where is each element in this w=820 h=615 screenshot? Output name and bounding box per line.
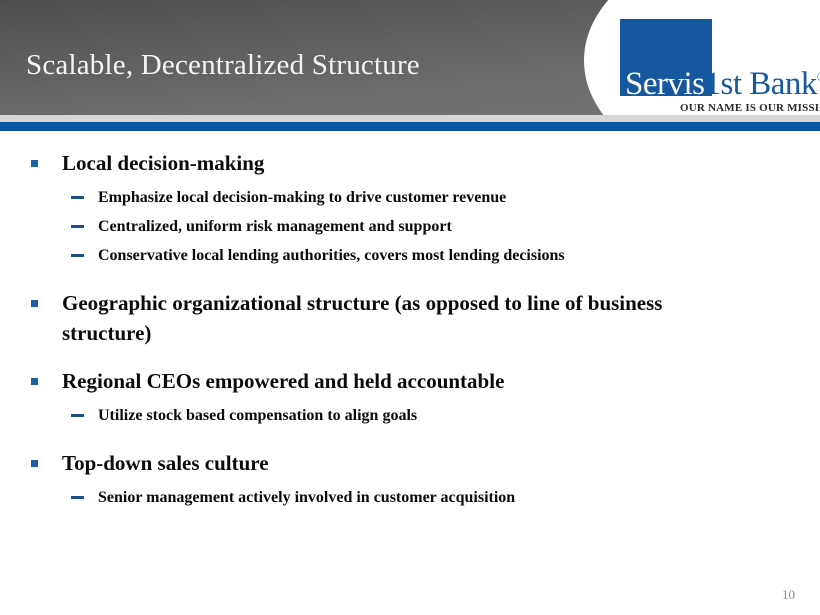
brand-logo: Servis1st Bank® OUR NAME IS OUR MISSION. bbox=[618, 18, 818, 116]
square-bullet-icon bbox=[31, 160, 38, 167]
bullet-level1-text: Geographic organizational structure (as … bbox=[62, 291, 662, 345]
bullet-level2-text: Senior management actively involved in c… bbox=[98, 489, 515, 506]
bullet-level2-text: Emphasize local decision-making to drive… bbox=[98, 189, 506, 206]
slide-body: Local decision-making Emphasize local de… bbox=[0, 148, 820, 512]
bullet-group: Regional CEOs empowered and held account… bbox=[0, 366, 820, 430]
divider-blue-stripe bbox=[0, 122, 820, 131]
bullet-level1: Geographic organizational structure (as … bbox=[0, 288, 820, 348]
bullet-level2: Senior management actively involved in c… bbox=[0, 483, 820, 512]
bullet-level1: Regional CEOs empowered and held account… bbox=[0, 366, 820, 396]
page-number: 10 bbox=[782, 587, 795, 603]
square-bullet-icon bbox=[31, 460, 38, 467]
bullet-level1-text: Regional CEOs empowered and held account… bbox=[62, 369, 504, 393]
dash-bullet-icon bbox=[71, 196, 84, 199]
divider-silver-stripe bbox=[0, 115, 820, 122]
bullet-level2: Emphasize local decision-making to drive… bbox=[0, 183, 820, 212]
bullet-level2-text: Centralized, uniform risk management and… bbox=[98, 218, 452, 235]
bullet-group: Top-down sales culture Senior management… bbox=[0, 448, 820, 512]
dash-bullet-icon bbox=[71, 414, 84, 417]
bullet-level2: Utilize stock based compensation to alig… bbox=[0, 401, 820, 430]
logo-text-1st-bank: 1st Bank bbox=[705, 66, 817, 102]
square-bullet-icon bbox=[31, 378, 38, 385]
page-title: Scalable, Decentralized Structure bbox=[26, 47, 420, 83]
bullet-level2: Conservative local lending authorities, … bbox=[0, 241, 820, 270]
dash-bullet-icon bbox=[71, 496, 84, 499]
bullet-level1-text: Local decision-making bbox=[62, 151, 264, 175]
bullet-level1: Top-down sales culture bbox=[0, 448, 820, 478]
bullet-group: Geographic organizational structure (as … bbox=[0, 288, 820, 348]
logo-tagline: OUR NAME IS OUR MISSION. bbox=[680, 102, 820, 115]
logo-wordmark: Servis1st Bank® bbox=[620, 58, 818, 98]
bullet-level1: Local decision-making bbox=[0, 148, 820, 178]
logo-text-servis: Servis bbox=[620, 66, 705, 102]
dash-bullet-icon bbox=[71, 254, 84, 257]
square-bullet-icon bbox=[31, 300, 38, 307]
dash-bullet-icon bbox=[71, 225, 84, 228]
bullet-group: Local decision-making Emphasize local de… bbox=[0, 148, 820, 270]
presentation-slide: Scalable, Decentralized Structure Servis… bbox=[0, 0, 820, 615]
bullet-level1-text: Top-down sales culture bbox=[62, 451, 269, 475]
bullet-level2: Centralized, uniform risk management and… bbox=[0, 212, 820, 241]
bullet-level2-text: Utilize stock based compensation to alig… bbox=[98, 407, 417, 424]
bullet-level2-text: Conservative local lending authorities, … bbox=[98, 247, 565, 264]
